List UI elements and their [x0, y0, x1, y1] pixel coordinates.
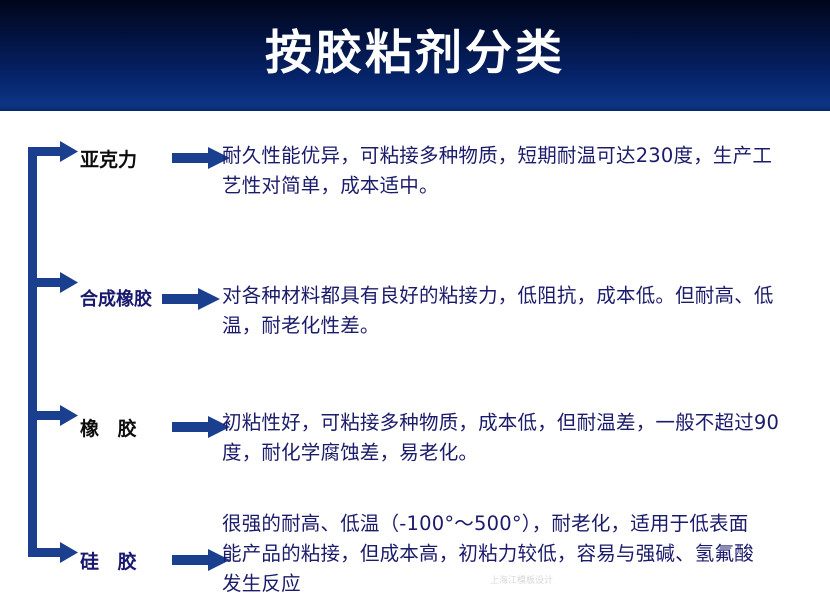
- category-description-synthetic-rubber: 对各种材料都具有良好的粘接力，低阻抗，成本低。但耐高、低温，耐老化性差。: [222, 281, 782, 341]
- category-label-acrylic: 亚克力: [80, 151, 172, 170]
- page-title: 按胶粘剂分类: [265, 28, 565, 80]
- category-label-synthetic-rubber: 合成橡胶: [80, 291, 172, 309]
- diagram-area: 亚克力 耐久性能优异，可粘接多种物质，短期耐温可达230度，生产工艺性对简单，成…: [0, 111, 830, 585]
- right-arrow-icon: [162, 288, 222, 310]
- category-label-rubber: 橡 胶: [80, 420, 172, 439]
- category-label-silicone: 硅 胶: [80, 553, 172, 572]
- category-description-acrylic: 耐久性能优异，可粘接多种物质，短期耐温可达230度，生产工艺性对简单，成本适中。: [222, 141, 782, 201]
- title-banner: 按胶粘剂分类: [0, 0, 830, 111]
- category-description-rubber: 初粘性好，可粘接多种物质，成本低，但耐温差，一般不超过90度，耐化学腐蚀差，易老…: [222, 408, 782, 468]
- bracket-connector-icon: [0, 111, 120, 585]
